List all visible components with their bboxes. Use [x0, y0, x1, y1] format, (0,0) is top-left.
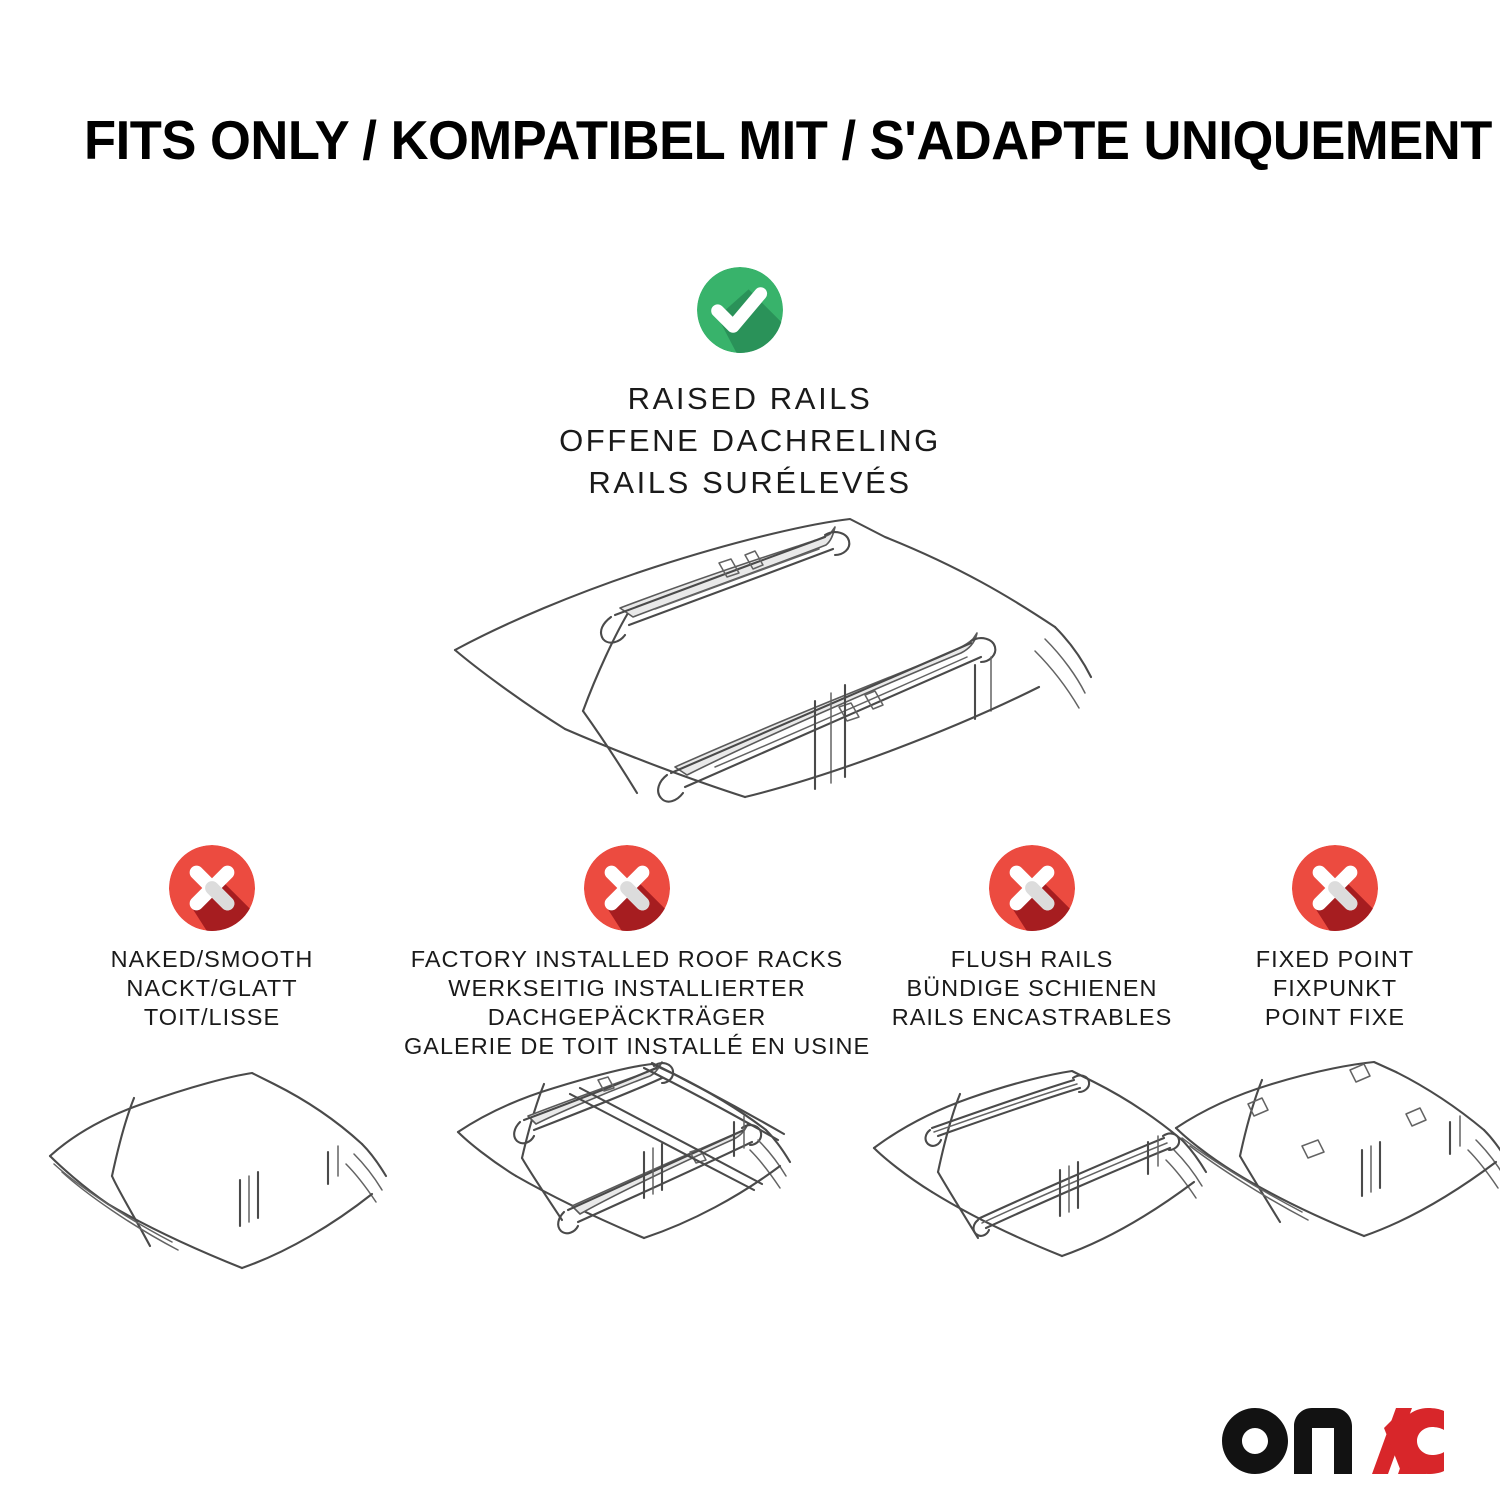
- incompatible-label-line-1: FIXED POINT: [1205, 945, 1465, 974]
- incompatible-label: NAKED/SMOOTH NACKT/GLATT TOIT/LISSE: [22, 945, 402, 1032]
- page-title: FITS ONLY / KOMPATIBEL MIT / S'ADAPTE UN…: [84, 110, 1364, 170]
- car-roof-with-raised-rails-illustration: [415, 505, 1115, 815]
- red-x-circle-icon: [169, 845, 255, 931]
- red-x-circle-icon: [1292, 845, 1378, 931]
- compatible-label-line-2: OFFENE DACHRELING: [250, 420, 1250, 462]
- infographic-page: FITS ONLY / KOMPATIBEL MIT / S'ADAPTE UN…: [0, 0, 1500, 1500]
- incompatible-label-line-4: GALERIE DE TOIT INSTALLÉ EN USINE: [404, 1032, 850, 1061]
- compatible-label-line-3: RAILS SURÉLEVÉS: [250, 462, 1250, 504]
- compatible-label: RAISED RAILS OFFENE DACHRELING RAILS SUR…: [250, 378, 1250, 504]
- green-check-circle-icon: [697, 267, 783, 353]
- incompatible-label: FACTORY INSTALLED ROOF RACKS WERKSEITIG …: [404, 945, 850, 1061]
- car-roof-factory-roof-rack-illustration: [444, 1060, 804, 1290]
- omac-logo: [1222, 1408, 1444, 1474]
- incompatible-label-line-2: WERKSEITIG INSTALLIERTER: [404, 974, 850, 1003]
- incompatible-label-line-1: FACTORY INSTALLED ROOF RACKS: [404, 945, 850, 974]
- incompatible-label-line-3: DACHGEPÄCKTRÄGER: [404, 1003, 850, 1032]
- incompatible-label-line-2: FIXPUNKT: [1205, 974, 1465, 1003]
- incompatible-label-line-3: TOIT/LISSE: [22, 1003, 402, 1032]
- incompatible-label: FLUSH RAILS BÜNDIGE SCHIENEN RAILS ENCAS…: [862, 945, 1202, 1032]
- incompatible-label-line-1: FLUSH RAILS: [862, 945, 1202, 974]
- incompatible-label-line-3: POINT FIXE: [1205, 1003, 1465, 1032]
- red-x-circle-icon: [989, 845, 1075, 931]
- incompatible-label-line-1: NAKED/SMOOTH: [22, 945, 402, 974]
- car-roof-fixed-point-illustration: [1150, 1060, 1500, 1290]
- incompatible-label: FIXED POINT FIXPUNKT POINT FIXE: [1205, 945, 1465, 1032]
- compatible-label-line-1: RAISED RAILS: [250, 378, 1250, 420]
- incompatible-label-line-2: BÜNDIGE SCHIENEN: [862, 974, 1202, 1003]
- red-x-circle-icon: [584, 845, 670, 931]
- incompatible-label-line-3: RAILS ENCASTRABLES: [862, 1003, 1202, 1032]
- incompatible-label-line-2: NACKT/GLATT: [22, 974, 402, 1003]
- car-roof-naked-smooth-illustration: [42, 1060, 392, 1290]
